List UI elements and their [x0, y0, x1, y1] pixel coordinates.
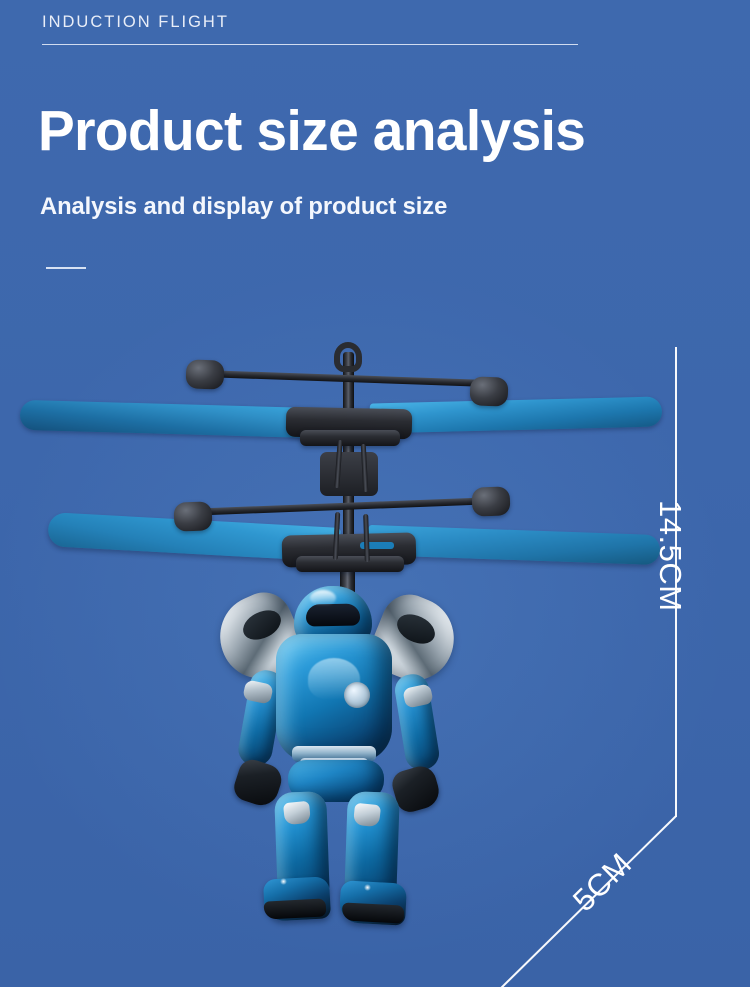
flybar-weight-lower-left: [174, 501, 213, 531]
flybar-weight-lower-right: [472, 486, 511, 516]
robot-body: [214, 578, 464, 938]
rotor-hub-lower-collar: [296, 556, 404, 572]
robot-head-highlight: [310, 590, 336, 606]
boot-spark-left: [280, 878, 287, 885]
flybar-weight-upper-right: [470, 376, 509, 406]
boot-spark-right: [364, 884, 371, 891]
chest-emblem: [344, 682, 370, 708]
robot-visor: [306, 604, 360, 627]
boot-toe-left: [264, 898, 327, 919]
upper-rotor-blade-left: [20, 400, 321, 438]
rotor-hub-upper-collar: [300, 430, 400, 446]
boot-toe-right: [342, 902, 405, 923]
control-link-rod-lower-2: [363, 514, 370, 562]
product-size-banner: INDUCTION FLIGHT Product size analysis A…: [0, 0, 750, 987]
product-illustration: [0, 0, 750, 987]
height-dimension-label: 14.5CM: [652, 500, 688, 612]
swashplate: [320, 452, 378, 496]
flybar-weight-upper-left: [186, 359, 225, 389]
stabilizer-flybar-lower: [182, 497, 500, 516]
mast-top-loop: [334, 342, 362, 372]
upper-rotor-blade-right: [370, 396, 663, 433]
